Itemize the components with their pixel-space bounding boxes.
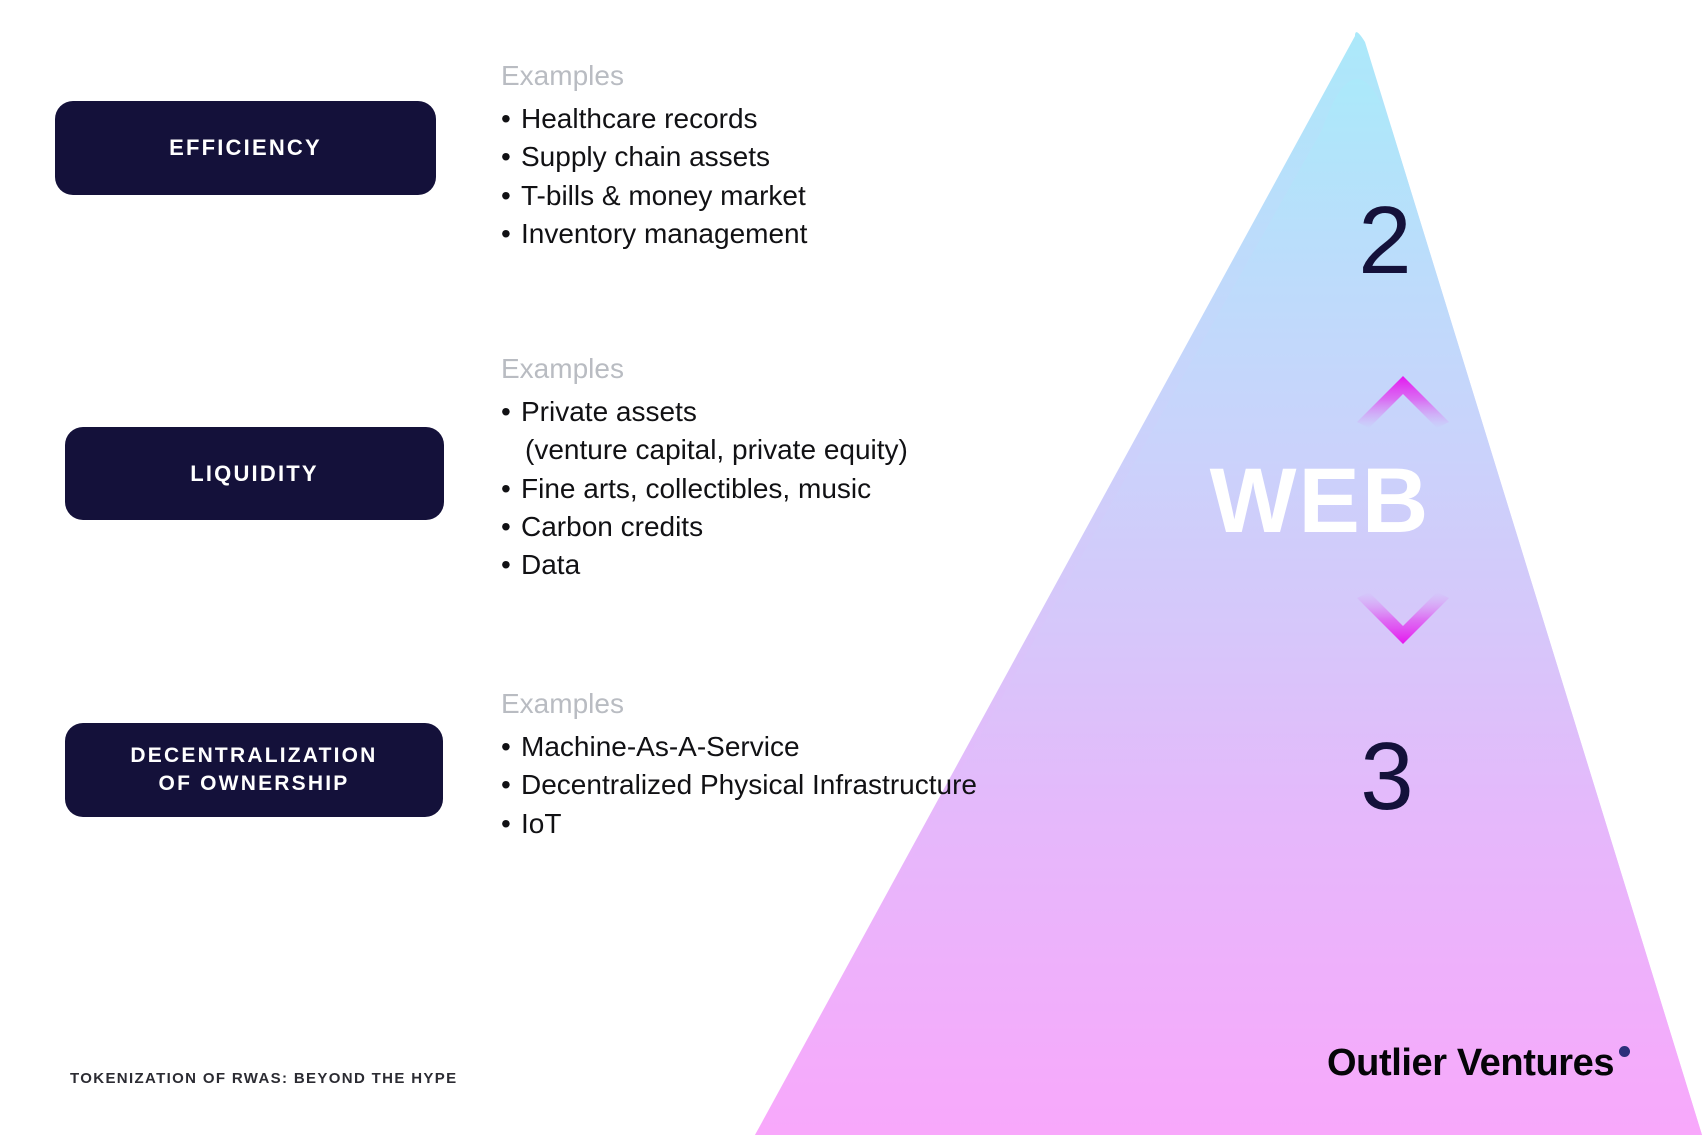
- list-item: Fine arts, collectibles, music: [501, 470, 908, 508]
- chevron-down-icon: [1353, 592, 1453, 648]
- tier-label-text: EFFICIENCY: [169, 133, 322, 162]
- tier-label-liquidity: LIQUIDITY: [65, 427, 444, 520]
- list-item: Machine-As-A-Service: [501, 728, 977, 766]
- web3-numeral: 3: [1327, 729, 1447, 825]
- list-item-continuation: (venture capital, private equity): [521, 431, 908, 469]
- brand-dot-icon: [1619, 1046, 1630, 1057]
- list-item: Inventory management: [501, 215, 807, 253]
- tier-label-text-line1: DECENTRALIZATION: [130, 742, 377, 770]
- list-item: Data: [501, 546, 908, 584]
- list-item: IoT: [501, 805, 977, 843]
- list-item: T-bills & money market: [501, 177, 807, 215]
- tier-label-text: LIQUIDITY: [190, 459, 319, 488]
- examples-list: Healthcare records Supply chain assets T…: [501, 100, 807, 253]
- examples-block-liquidity: Examples Private assets (venture capital…: [501, 351, 908, 585]
- examples-heading: Examples: [501, 58, 807, 95]
- brand-name: Outlier Ventures: [1327, 1042, 1614, 1085]
- list-item: Carbon credits: [501, 508, 908, 546]
- examples-heading: Examples: [501, 351, 908, 388]
- examples-heading: Examples: [501, 686, 977, 723]
- tier-label-text-line2: OF OWNERSHIP: [159, 770, 350, 798]
- list-item: Decentralized Physical Infrastructure: [501, 766, 977, 804]
- examples-block-efficiency: Examples Healthcare records Supply chain…: [501, 58, 807, 253]
- list-item-text: Private assets: [521, 396, 697, 427]
- tier-label-efficiency: EFFICIENCY: [55, 101, 436, 195]
- brand-logo: Outlier Ventures: [1327, 1042, 1630, 1085]
- tier-label-decentralization-of-ownership: DECENTRALIZATION OF OWNERSHIP: [65, 723, 443, 817]
- examples-block-decentralization: Examples Machine-As-A-Service Decentrali…: [501, 686, 977, 843]
- list-item: Private assets (venture capital, private…: [501, 393, 908, 470]
- list-item: Supply chain assets: [501, 138, 807, 176]
- infographic-canvas: EFFICIENCY Examples Healthcare records S…: [0, 0, 1702, 1135]
- web-word: WEB: [1170, 455, 1470, 547]
- list-item: Healthcare records: [501, 100, 807, 138]
- examples-list: Machine-As-A-Service Decentralized Physi…: [501, 728, 977, 843]
- footer-caption: TOKENIZATION OF RWAS: BEYOND THE HYPE: [70, 1070, 457, 1087]
- chevron-up-icon: [1353, 372, 1453, 428]
- web2-numeral: 2: [1325, 193, 1445, 289]
- examples-list: Private assets (venture capital, private…: [501, 393, 908, 585]
